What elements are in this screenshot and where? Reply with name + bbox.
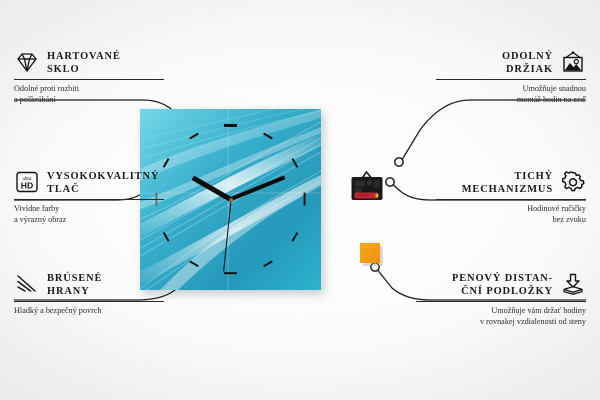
feature-hardened-glass: HARTOVANÉ SKLO Odolné proti rozbiti a po… (14, 50, 164, 106)
feature-subtitle: Hladký a bezpečný povrch (14, 306, 164, 317)
divider (436, 199, 586, 200)
product-clock-panel (140, 109, 321, 290)
feature-foam-spacers: PENOVÝ DISTAN- ČNÍ PODLOŽKY Umožňuje vám… (416, 272, 586, 328)
node-right-bottom (371, 263, 379, 271)
divider (416, 301, 586, 302)
clock-mechanism-icon (347, 168, 387, 208)
divider (14, 79, 164, 80)
wire-right-top (400, 100, 586, 163)
feature-ground-edges: BRÚSENÉ HRANY Hladký a bezpečný povrch (14, 272, 164, 317)
svg-text:HD: HD (21, 180, 33, 190)
divider (14, 199, 164, 200)
clock-tick (224, 124, 237, 126)
picture-frame-icon (560, 50, 586, 74)
infographic-canvas: HARTOVANÉ SKLO Odolné proti rozbiti a po… (0, 0, 600, 400)
node-right-mid (386, 178, 394, 186)
clock-center-hub (229, 198, 233, 202)
feature-title: PENOVÝ DISTAN- ČNÍ PODLOŽKY (452, 272, 553, 298)
clock-tick (303, 193, 305, 206)
divider (436, 79, 586, 80)
feature-title: TICHÝ MECHANIZMUS (462, 170, 553, 196)
feature-title: VYSOKOKVALITNÝ TLAČ (47, 170, 159, 196)
feature-subtitle: Umožňuje snadnou montáž hodin na zeď (436, 84, 586, 105)
ultra-hd-badge-icon: ultra HD (14, 170, 40, 194)
ground-edges-icon (14, 272, 40, 296)
foam-spacer-pad (360, 243, 380, 263)
foam-pad-icon (560, 272, 586, 296)
feature-silent-mechanism: TICHÝ MECHANIZMUS Hodinové ručičky bez z… (436, 170, 586, 226)
feature-subtitle: Hodinové ručičky bez zvuku (436, 204, 586, 225)
divider (14, 301, 164, 302)
feature-title: HARTOVANÉ SKLO (47, 50, 121, 76)
gear-icon (560, 170, 586, 194)
feature-subtitle: Vivídne farby a výrazný obraz (14, 204, 164, 225)
feature-durable-hanger: ODOLNÝ DRŽIAK Umožňuje snadnou montáž ho… (436, 50, 586, 106)
feature-high-quality-print: ultra HD VYSOKOKVALITNÝ TLAČ Vivídne far… (14, 170, 164, 226)
feature-title: ODOLNÝ DRŽIAK (502, 50, 553, 76)
node-right-top (395, 158, 403, 166)
feature-subtitle: Umožňuje vám držať hodiny v rovnakej vzd… (416, 306, 586, 327)
feature-title: BRÚSENÉ HRANY (47, 272, 102, 298)
diamond-icon (14, 50, 40, 74)
feature-subtitle: Odolné proti rozbiti a poškrábání (14, 84, 164, 105)
